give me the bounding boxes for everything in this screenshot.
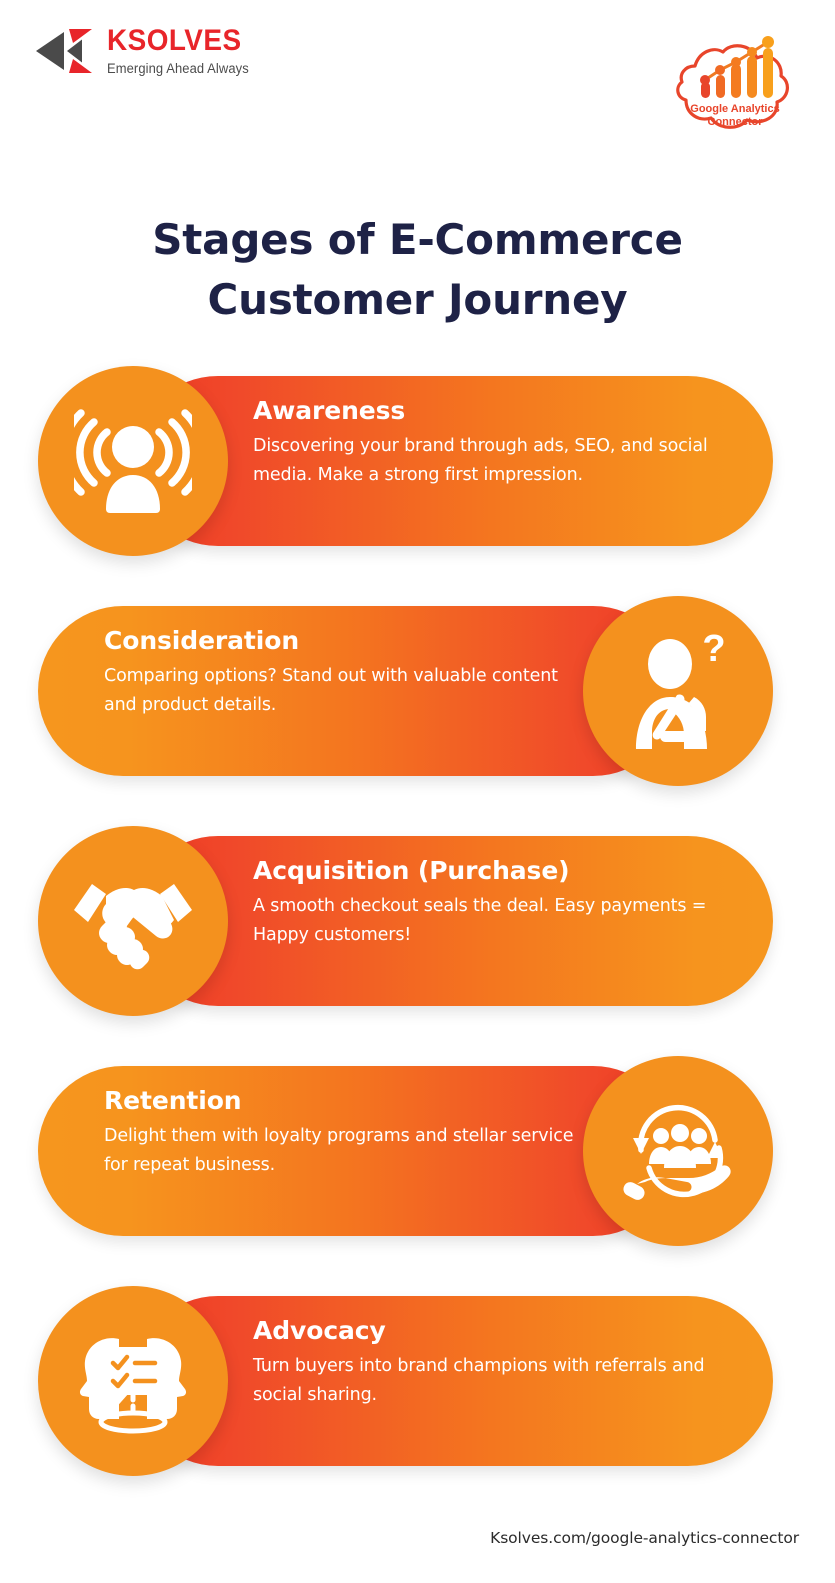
footer-url[interactable]: Ksolves.com/google-analytics-connector — [490, 1529, 799, 1547]
stage-icon-circle: ? — [583, 596, 773, 786]
stage-description: Comparing options? Stand out with valuab… — [104, 662, 578, 720]
stage-copy: Consideration Comparing options? Stand o… — [104, 626, 578, 720]
stage-card-consideration[interactable]: ? Consideration Comparing options? Stand… — [38, 596, 773, 786]
stage-icon-circle — [38, 826, 228, 1016]
stage-title: Consideration — [104, 626, 578, 656]
stage-title: Acquisition (Purchase) — [253, 856, 733, 886]
stage-card-awareness[interactable]: Awareness Discovering your brand through… — [38, 366, 773, 556]
stage-description: Discovering your brand through ads, SEO,… — [253, 432, 733, 490]
stage-card-advocacy[interactable]: Advocacy Turn buyers into brand champion… — [38, 1286, 773, 1476]
stage-description: Delight them with loyalty programs and s… — [104, 1122, 578, 1180]
hand-holding-people-cycle-icon — [619, 1092, 737, 1210]
stage-icon-circle — [38, 1286, 228, 1476]
stage-icon-circle — [583, 1056, 773, 1246]
stage-card-retention[interactable]: Retention Delight them with loyalty prog… — [38, 1056, 773, 1246]
thinking-person-question-icon: ? — [622, 631, 734, 751]
svg-text:?: ? — [702, 631, 725, 670]
handshake-icon — [72, 870, 194, 972]
stage-card-acquisition[interactable]: Acquisition (Purchase) A smooth checkout… — [38, 826, 773, 1016]
stage-description: Turn buyers into brand champions with re… — [253, 1352, 733, 1410]
stage-copy: Advocacy Turn buyers into brand champion… — [253, 1316, 733, 1410]
stage-copy: Retention Delight them with loyalty prog… — [104, 1086, 578, 1180]
stage-copy: Awareness Discovering your brand through… — [253, 396, 733, 490]
stage-title: Advocacy — [253, 1316, 733, 1346]
broadcast-person-icon — [74, 409, 192, 513]
stage-copy: Acquisition (Purchase) A smooth checkout… — [253, 856, 733, 950]
stage-title: Awareness — [253, 396, 733, 426]
stage-icon-circle — [38, 366, 228, 556]
stages-list: Awareness Discovering your brand through… — [0, 0, 835, 1583]
stage-title: Retention — [104, 1086, 578, 1116]
two-heads-checklist-icon — [75, 1323, 191, 1439]
stage-description: A smooth checkout seals the deal. Easy p… — [253, 892, 733, 950]
